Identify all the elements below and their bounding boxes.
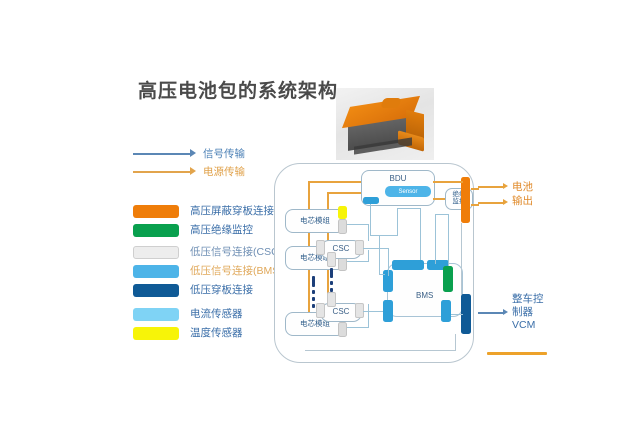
- wire-mod1-csc1: [347, 224, 369, 225]
- module-connector-1: [338, 219, 347, 234]
- slide-canvas: 高压电池包的系统架构 信号传输 电源传输 高压屏蔽穿板连接 高压绝缘监控 低压信…: [0, 0, 630, 443]
- swatch-current-sensor: [133, 308, 179, 321]
- battery-output-label-line1: 电池: [512, 181, 533, 194]
- power-out-wire-1: [471, 188, 479, 190]
- vcm-label-line1: 整车控: [512, 293, 544, 306]
- legend-label-lv-bms: 低压信号连接(BMS): [190, 265, 283, 278]
- wire-sensor-v2: [420, 208, 421, 260]
- wire-bms-join: [388, 268, 389, 276]
- vcm-label-line2: 制器: [512, 306, 533, 319]
- battery-output-arrow-line-1: [478, 186, 504, 188]
- hv-through-plate-connector: [461, 177, 470, 223]
- wire-mod3-csc2: [347, 327, 369, 328]
- csc-2-label: CSC: [333, 308, 350, 316]
- legend-label-lv-through-plate: 低压穿板连接: [190, 284, 253, 297]
- bdu-sensor-badge[interactable]: Sensor: [385, 186, 431, 197]
- battery-output-arrowhead-1: [503, 183, 508, 189]
- cell-module-1-label: 电芯模组: [300, 217, 330, 225]
- wire-bdu-down-1h: [370, 235, 398, 236]
- wire-orange-to-navy: [461, 223, 462, 295]
- legend-label-current-sensor: 电流传感器: [190, 308, 243, 321]
- module-connector-3: [338, 322, 347, 337]
- bdu-sensor-label: Sensor: [398, 189, 417, 195]
- power-wire-bdu-to-insul: [433, 198, 445, 200]
- battery-output-label-line2: 输出: [512, 195, 533, 208]
- wire-mod3-csc2-v: [368, 304, 369, 328]
- vcm-label-line3: VCM: [512, 319, 535, 332]
- bms-top-connector-1: [392, 260, 424, 270]
- signal-arrow-head: [190, 149, 196, 157]
- wire-mod2-csc1: [347, 261, 369, 262]
- power-arrow-line: [133, 171, 191, 173]
- panel-bottom-wire-v: [455, 334, 456, 351]
- power-arrow-head: [190, 167, 196, 175]
- accent-underline: [487, 352, 547, 355]
- signal-arrow-line: [133, 153, 191, 155]
- wire-bms-to-navy: [451, 314, 463, 315]
- legend-label-lv-csc: 低压信号连接(CSC): [190, 246, 282, 259]
- wire-sensor-h: [397, 208, 421, 209]
- vcm-arrow-line: [478, 312, 504, 314]
- swatch-hv-shielded-through-plate: [133, 205, 179, 218]
- page-title: 高压电池包的系统架构: [138, 76, 338, 103]
- battery-pack-photo: [336, 88, 434, 160]
- csc-1-bottom-connector: [327, 252, 336, 267]
- swatch-temperature-sensor: [133, 327, 179, 340]
- legend-label-power: 电源传输: [203, 164, 245, 179]
- wire-bdu-down-1: [370, 204, 371, 236]
- wire-csc1-bms: [363, 248, 389, 249]
- legend-label-signal: 信号传输: [203, 146, 245, 161]
- wire-bms-left-feed: [379, 236, 380, 274]
- wire-insul-h: [435, 214, 449, 215]
- swatch-lv-signal-bms: [133, 265, 179, 278]
- power-wire-bdu-right-1: [433, 181, 463, 183]
- bdu-left-connector: [363, 197, 379, 204]
- wire-mod1-csc1-v: [368, 224, 369, 241]
- wire-bms-left-feed-h: [379, 274, 385, 275]
- wire-sensor-down: [397, 208, 398, 236]
- csc-2-left-connector: [316, 303, 325, 318]
- swatch-lv-through-plate: [133, 284, 179, 297]
- legend-label-temp-sensor: 温度传感器: [190, 327, 243, 340]
- cell-module-1[interactable]: 电芯模组: [285, 209, 345, 233]
- battery-output-arrow-line-2: [478, 202, 504, 204]
- bms-right-connector: [441, 300, 451, 322]
- bms-insulation-connector: [443, 266, 453, 292]
- bms-left-connector-2: [383, 300, 393, 322]
- panel-bottom-wire: [305, 350, 455, 351]
- temp-sensor-1: [338, 206, 347, 219]
- csc-continuation-dots: [330, 268, 333, 295]
- swatch-lv-signal-csc: [133, 246, 179, 259]
- legend-label-hv-insulation: 高压绝缘监控: [190, 224, 253, 237]
- csc-1-left-connector: [316, 240, 325, 255]
- swatch-hv-insulation-monitor: [133, 224, 179, 237]
- module-continuation-dots: [312, 276, 315, 311]
- power-out-wire-2: [471, 204, 479, 206]
- system-architecture-panel: BDU Sensor 绝缘 监控 电芯模组 电芯模组 电芯模组: [274, 163, 474, 363]
- wire-insul-v2: [448, 214, 449, 266]
- wire-insul-down: [435, 214, 436, 264]
- bms-label: BMS: [416, 292, 433, 300]
- legend-label-hv-shielded: 高压屏蔽穿板连接: [190, 205, 274, 218]
- wire-mod2-csc1-v: [368, 250, 369, 262]
- battery-output-arrowhead-2: [503, 199, 508, 205]
- bdu-label: BDU: [390, 175, 407, 183]
- vcm-arrowhead: [503, 309, 508, 315]
